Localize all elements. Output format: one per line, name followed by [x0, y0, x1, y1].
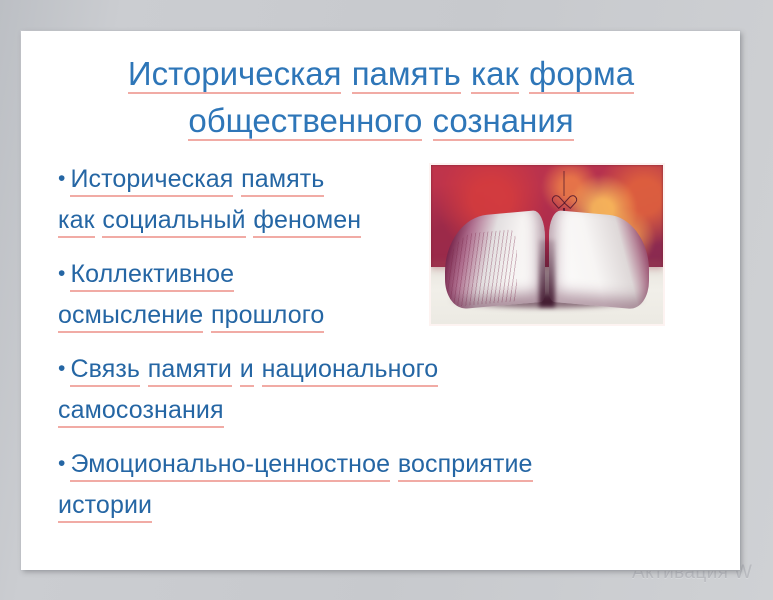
text-word: памяти — [148, 349, 232, 390]
text-word: Связь — [70, 349, 140, 390]
text-word: Коллективное — [70, 254, 234, 295]
open-book — [445, 214, 649, 306]
text-word: память — [352, 50, 461, 97]
text-word: как — [471, 50, 519, 97]
text-word: и — [240, 349, 254, 390]
bullet-line: •Связьпамятиинационального — [58, 348, 698, 390]
slide-title: Историческаяпамятькакформаобщественногос… — [59, 50, 703, 144]
book-page-right — [549, 210, 649, 311]
text-word: Эмоционально-ценностное — [70, 444, 390, 485]
text-word: как — [58, 200, 95, 241]
bullet-item[interactable]: •Эмоционально-ценностноевосприятиеистори… — [58, 443, 698, 526]
presentation-slide[interactable]: Историческаяпамятькакформаобщественногос… — [21, 31, 740, 570]
text-word: прошлого — [211, 295, 324, 336]
bullet-line: самосознания — [58, 390, 698, 431]
bullet-marker-icon: • — [58, 158, 65, 199]
text-word: социальный — [102, 200, 245, 241]
bullet-line: истории — [58, 485, 698, 526]
text-word: национального — [262, 349, 439, 390]
text-word: восприятие — [398, 444, 533, 485]
text-word: феномен — [253, 200, 361, 241]
text-word: форма — [529, 50, 634, 97]
text-word: Историческая — [128, 50, 342, 97]
text-word: память — [241, 159, 324, 200]
book-spine — [539, 240, 555, 306]
slide-title-line: общественногосознания — [59, 97, 703, 144]
slide-title-line: Историческаяпамятькакформа — [59, 50, 703, 97]
bullet-marker-icon: • — [58, 443, 65, 484]
key-heart-bow — [557, 193, 572, 207]
text-word: сознания — [433, 97, 574, 144]
text-word: самосознания — [58, 390, 224, 431]
open-book-with-heart-key-image[interactable] — [429, 163, 665, 326]
text-word: осмысление — [58, 295, 203, 336]
text-word: Историческая — [70, 159, 233, 200]
screen: Активация W Историческаяпамятькакформаоб… — [0, 0, 773, 600]
bullet-line: •Эмоционально-ценностноевосприятие — [58, 443, 698, 485]
bullet-marker-icon: • — [58, 348, 65, 389]
text-word: истории — [58, 485, 152, 526]
text-word: общественного — [188, 97, 422, 144]
bullet-item[interactable]: •Связьпамятиинациональногосамосознания — [58, 348, 698, 431]
book-page-left — [445, 210, 545, 311]
bullet-marker-icon: • — [58, 253, 65, 294]
